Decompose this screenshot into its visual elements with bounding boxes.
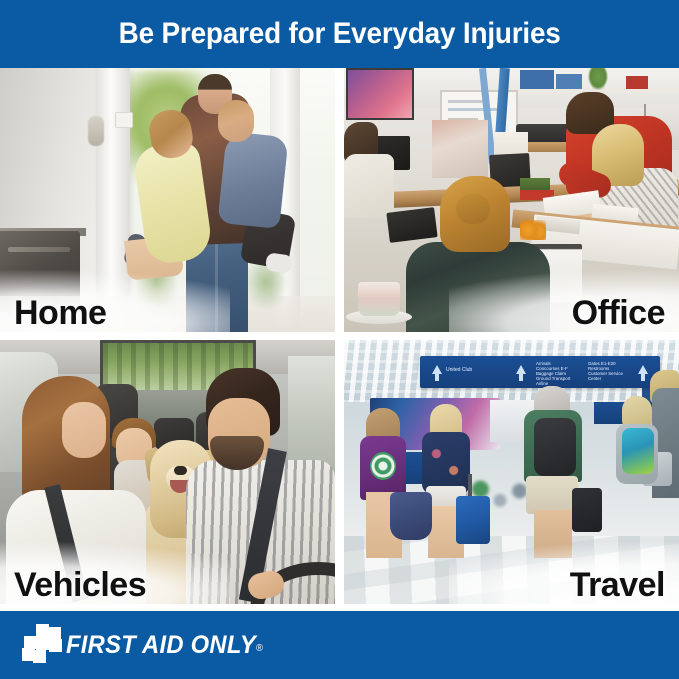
category-tile-office[interactable]: Office bbox=[344, 68, 679, 332]
brand-logo: FIRST AID ONLY® bbox=[22, 624, 274, 666]
office-person-plaid-shirt bbox=[406, 242, 550, 332]
airport-traveler-three-shorts bbox=[526, 476, 578, 514]
home-door-frame-left bbox=[96, 68, 130, 332]
tile-label-office: Office bbox=[572, 296, 665, 330]
office-coffee-cup bbox=[358, 282, 400, 316]
vehicle-dog-nose bbox=[174, 466, 187, 475]
page-title: Be Prepared for Everyday Injuries bbox=[118, 17, 560, 51]
home-door-handle bbox=[88, 116, 104, 146]
airport-traveler-four-backpack bbox=[622, 428, 654, 474]
first-aid-cross-icon bbox=[22, 624, 62, 666]
airport-traveler-three-suitcase bbox=[572, 488, 602, 532]
category-tile-home[interactable]: Home bbox=[0, 68, 335, 332]
tile-label-travel: Travel bbox=[570, 568, 665, 602]
office-plant bbox=[588, 68, 608, 90]
category-tile-vehicles[interactable]: Vehicles bbox=[0, 340, 335, 604]
home-boy-head bbox=[218, 100, 254, 142]
airport-traveler-one-shirt-graphic bbox=[370, 452, 396, 480]
airport-traveler-three-legs bbox=[534, 510, 572, 558]
brand-name: FIRST AID ONLY® bbox=[66, 631, 263, 660]
category-grid: Home bbox=[0, 68, 679, 604]
up-arrow-icon bbox=[432, 365, 442, 374]
header-bar: Be Prepared for Everyday Injuries bbox=[0, 0, 679, 68]
home-boy-shirt bbox=[217, 131, 288, 229]
office-laptop bbox=[386, 207, 437, 243]
office-window-left bbox=[346, 68, 414, 120]
office-shelf-box-two bbox=[556, 74, 582, 89]
airport-blue-suitcase bbox=[456, 496, 490, 544]
airport-traveler-two-top bbox=[422, 432, 470, 494]
promo-banner: Be Prepared for Everyday Injuries bbox=[0, 0, 679, 679]
airport-traveler-three-backpack bbox=[534, 418, 576, 476]
office-shelf-box-one bbox=[520, 70, 554, 89]
airport-sign-col2-item4: Center bbox=[588, 376, 601, 381]
up-arrow-icon-three bbox=[638, 365, 648, 374]
airport-sign-destination: United Club bbox=[446, 368, 472, 373]
office-file-stack-one bbox=[432, 120, 488, 178]
office-red-box bbox=[626, 76, 648, 89]
tile-label-home: Home bbox=[14, 296, 106, 330]
airport-traveler-one-duffel-bag bbox=[390, 492, 432, 540]
office-person-ponytail-bun bbox=[456, 194, 490, 224]
category-tile-travel[interactable]: United Club Arrivals Concourses E-F Bagg… bbox=[344, 340, 679, 604]
up-arrow-icon-two bbox=[516, 365, 526, 374]
home-photo bbox=[0, 68, 335, 332]
office-whiteboard-note-two bbox=[448, 108, 502, 111]
brand-name-text: FIRST AID ONLY bbox=[66, 631, 256, 659]
office-person-curly-body bbox=[344, 154, 394, 218]
airport-overhead-sign: United Club Arrivals Concourses E-F Bagg… bbox=[420, 356, 660, 388]
registered-trademark-symbol: ® bbox=[256, 643, 263, 654]
office-photo bbox=[344, 68, 679, 332]
footer-bar: FIRST AID ONLY® bbox=[0, 611, 679, 679]
tile-label-vehicles: Vehicles bbox=[14, 568, 146, 602]
office-flowers bbox=[520, 220, 546, 240]
vehicles-photo bbox=[0, 340, 335, 604]
home-light-switch bbox=[115, 112, 133, 128]
travel-photo: United Club Arrivals Concourses E-F Bagg… bbox=[344, 340, 679, 604]
vehicle-woman-face bbox=[62, 402, 106, 458]
